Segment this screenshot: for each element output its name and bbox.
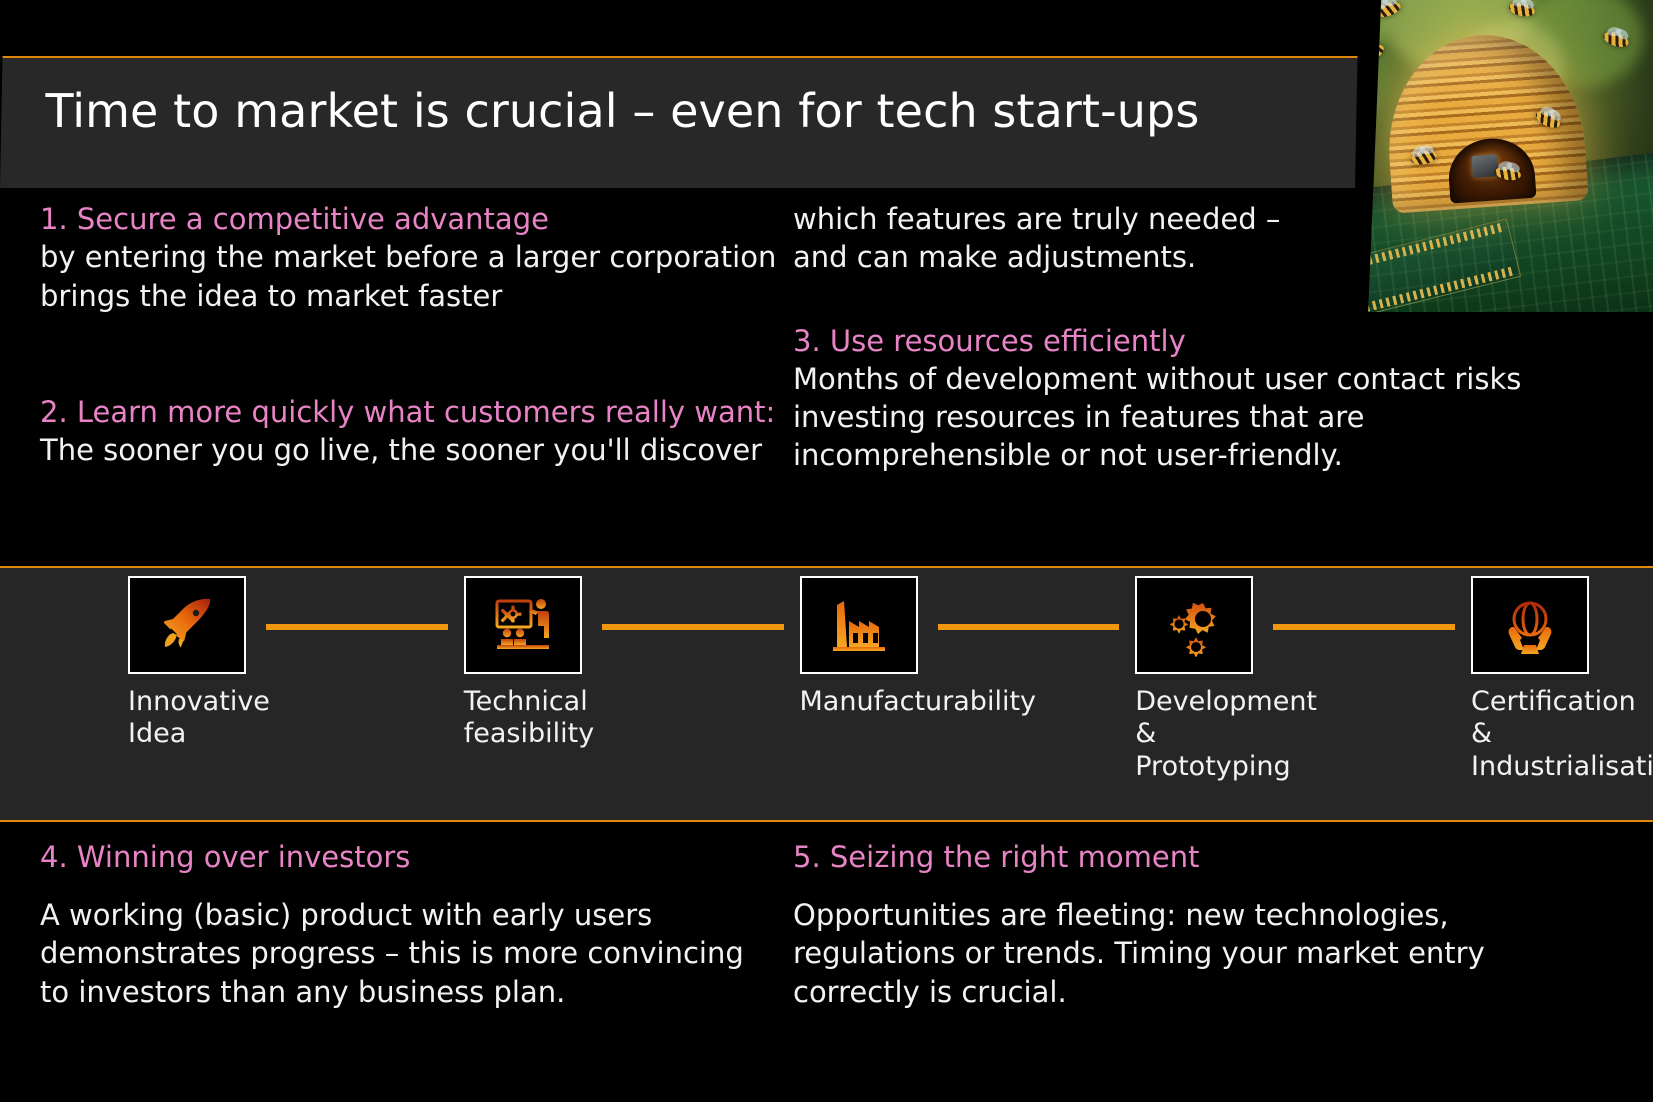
top-left-column: 1. Secure a competitive advantage by ent… xyxy=(40,200,780,469)
point-4-heading: 4. Winning over investors xyxy=(40,840,780,874)
gears-icon xyxy=(1162,593,1226,657)
point-1-body: by entering the market before a larger c… xyxy=(40,238,780,315)
process-step-icon-box xyxy=(464,576,582,674)
point-1-block: 1. Secure a competitive advantage by ent… xyxy=(40,200,780,315)
factory-icon xyxy=(827,593,891,657)
process-step-icon-box xyxy=(1135,576,1253,674)
process-step-label: Manufacturability xyxy=(800,686,922,718)
point-5-body: Opportunities are fleeting: new technolo… xyxy=(793,896,1553,1011)
point-2-heading: 2. Learn more quickly what customers rea… xyxy=(40,393,780,431)
process-step-manufacturability[interactable]: Manufacturability xyxy=(800,568,922,718)
point-4-body: A working (basic) product with early use… xyxy=(40,896,780,1011)
header-band: Time to market is crucial – even for tec… xyxy=(0,56,1358,188)
point-3-body: Months of development without user conta… xyxy=(793,360,1553,475)
process-step-label: Development & Prototyping xyxy=(1135,686,1257,783)
point-4-block: 4. Winning over investors A working (bas… xyxy=(40,840,780,1011)
point-5-block: 5. Seizing the right moment Opportunitie… xyxy=(793,840,1553,1011)
point-2-block: 2. Learn more quickly what customers rea… xyxy=(40,393,780,470)
process-step-label: Certification & Industrialisation xyxy=(1471,686,1593,783)
point-3-block: 3. Use resources efficiently Months of d… xyxy=(793,322,1553,475)
process-steps: Innovative Idea xyxy=(128,568,1593,820)
process-connector xyxy=(266,624,448,630)
process-step-technical-feasibility[interactable]: Technical feasibility xyxy=(464,568,586,751)
point-3-heading: 3. Use resources efficiently xyxy=(793,322,1553,360)
bottom-content: 4. Winning over investors A working (bas… xyxy=(0,840,1653,1060)
process-connector xyxy=(1273,624,1455,630)
presentation-training-icon xyxy=(491,593,555,657)
process-step-innovative-idea[interactable]: Innovative Idea xyxy=(128,568,250,751)
process-step-certification-industrialisation[interactable]: Certification & Industrialisation xyxy=(1471,568,1593,783)
slide-root: Time to market is crucial – even for tec… xyxy=(0,0,1653,1102)
process-step-icon-box xyxy=(800,576,918,674)
page-title: Time to market is crucial – even for tec… xyxy=(45,84,1199,138)
point-1-heading: 1. Secure a competitive advantage xyxy=(40,200,780,238)
process-band: Innovative Idea xyxy=(0,566,1653,822)
point-5-heading: 5. Seizing the right moment xyxy=(793,840,1553,874)
point-2-body: The sooner you go live, the sooner you'l… xyxy=(40,431,780,469)
process-step-label: Innovative Idea xyxy=(128,686,250,751)
rocket-icon xyxy=(155,593,219,657)
hive-entrance xyxy=(1446,136,1536,204)
process-connector xyxy=(602,624,784,630)
globe-in-hands-icon xyxy=(1498,593,1562,657)
process-connector xyxy=(938,624,1120,630)
process-step-label: Technical feasibility xyxy=(464,686,586,751)
process-step-icon-box xyxy=(128,576,246,674)
process-step-development-prototyping[interactable]: Development & Prototyping xyxy=(1135,568,1257,783)
process-step-icon-box xyxy=(1471,576,1589,674)
